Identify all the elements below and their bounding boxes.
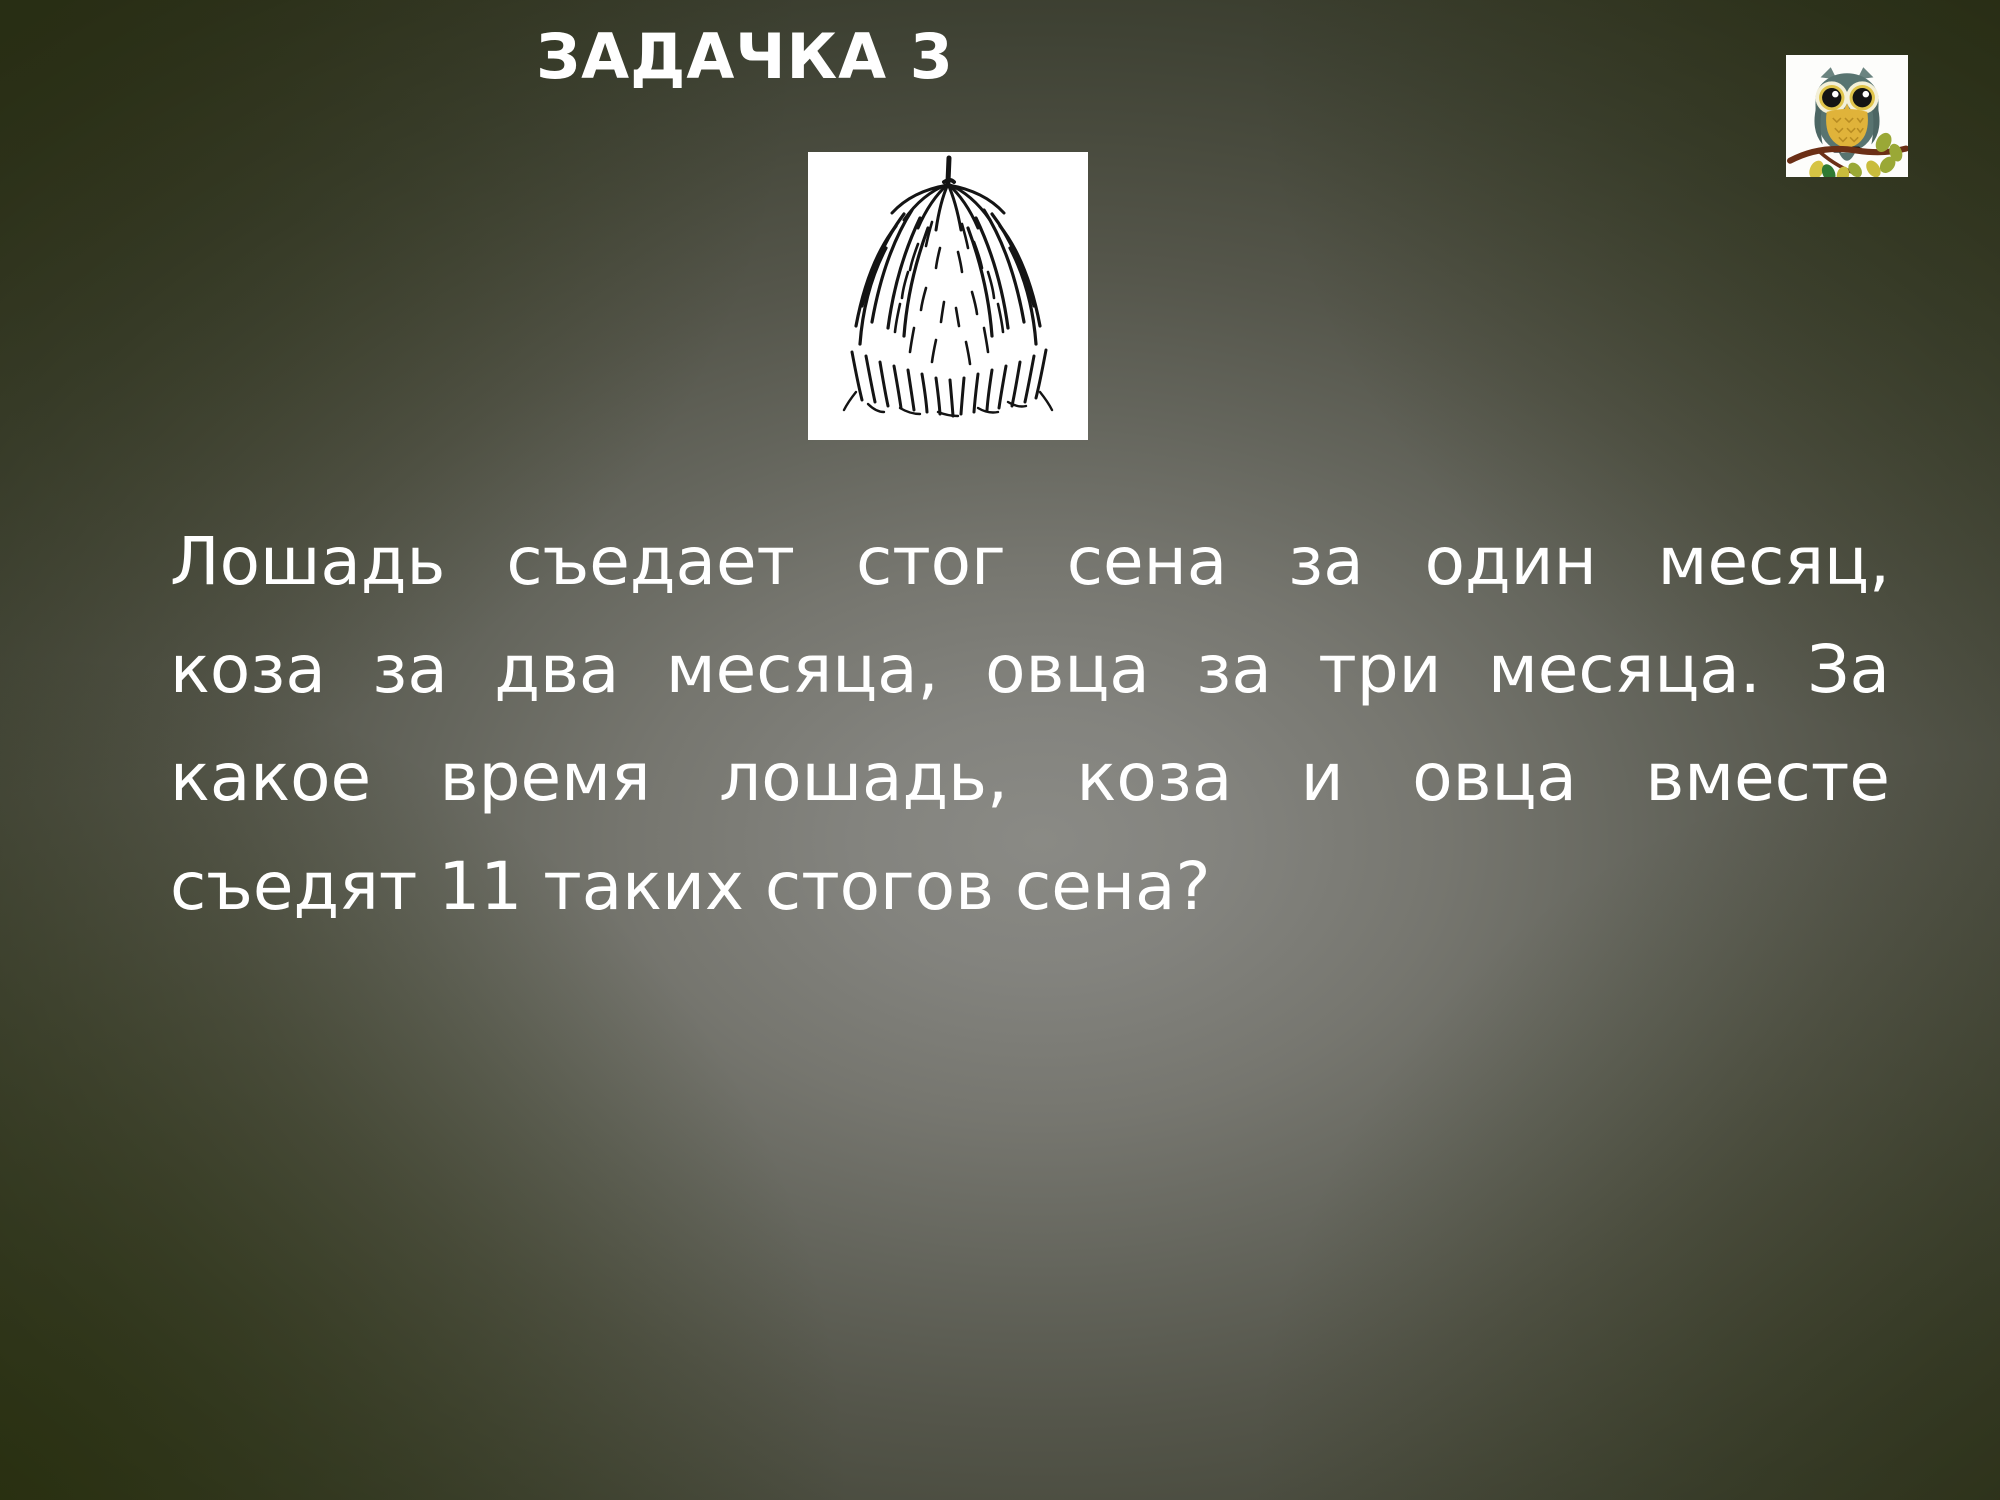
problem-line-3: какое время лошадь, коза и овца вместе — [170, 724, 1890, 832]
word: какое — [170, 724, 371, 832]
word: месяц, — [1658, 508, 1890, 616]
word: стог — [856, 508, 1006, 616]
word: коза — [170, 616, 326, 724]
haystack-icon — [808, 152, 1088, 440]
word: вместе — [1645, 724, 1890, 832]
owl-icon — [1786, 55, 1908, 177]
problem-line-1: Лошадь съедает стог сена за один месяц, — [170, 508, 1890, 616]
word: Лошадь — [170, 508, 445, 616]
word: и — [1301, 724, 1344, 832]
word: лошадь, — [719, 724, 1008, 832]
word: за — [1196, 616, 1272, 724]
haystack-illustration — [808, 152, 1088, 440]
word: овца — [1412, 724, 1577, 832]
word: два — [494, 616, 619, 724]
word: время — [440, 724, 651, 832]
owl-logo — [1786, 55, 1908, 177]
problem-text: Лошадь съедает стог сена за один месяц, … — [170, 508, 1890, 941]
word: месяца, — [666, 616, 939, 724]
word: месяца. — [1488, 616, 1761, 724]
slide-canvas: ЗАДАЧКА 3 — [0, 0, 2000, 1500]
word: овца — [985, 616, 1150, 724]
word: коза — [1076, 724, 1232, 832]
word: съедает — [506, 508, 795, 616]
word: один — [1425, 508, 1597, 616]
page-title: ЗАДАЧКА 3 — [0, 24, 1490, 89]
word: три — [1318, 616, 1441, 724]
word: сена — [1067, 508, 1228, 616]
word: за — [1288, 508, 1364, 616]
problem-line-4: съедят 11 таких стогов сена? — [170, 833, 1890, 941]
problem-line-2: коза за два месяца, овца за три месяца. … — [170, 616, 1890, 724]
word: за — [372, 616, 448, 724]
word: За — [1807, 616, 1890, 724]
